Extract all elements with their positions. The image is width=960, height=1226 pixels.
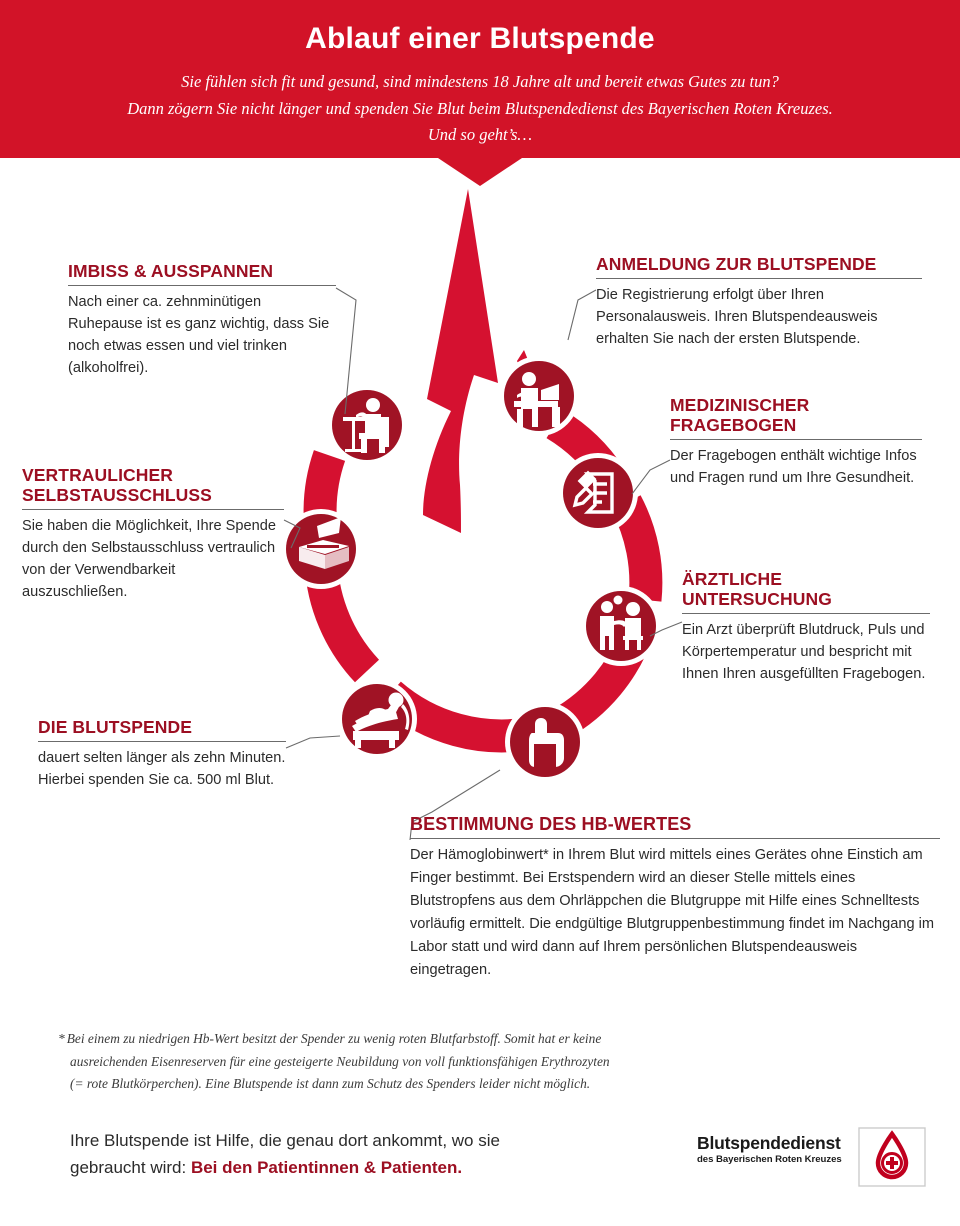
callout-hb-wert-body: Der Hämoglobinwert* in Ihrem Blut wird m… (410, 844, 940, 982)
callout-rule (596, 278, 922, 279)
callout-rule (410, 838, 940, 839)
footnote-line-1: *Bei einem zu niedrigen Hb-Wert besitzt … (58, 1028, 758, 1051)
closing-line-2-accent: Bei den Patientinnen & Patienten. (191, 1158, 462, 1177)
step-icon-anmeldung[interactable] (499, 356, 579, 436)
callout-rule (68, 285, 336, 286)
callout-rule (682, 613, 930, 614)
header-subtitle-line-1: Sie fühlen sich fit und gesund, sind min… (40, 69, 920, 96)
footnote: *Bei einem zu niedrigen Hb-Wert besitzt … (58, 1028, 758, 1096)
callout-anmeldung-body: Die Registrierung erfolgt über Ihren Per… (596, 284, 922, 351)
callout-hb-wert: BESTIMMUNG DES HB-WERTES Der Hämoglobinw… (410, 814, 940, 982)
callout-blutspende-heading: DIE BLUTSPENDE (38, 718, 286, 738)
step-icon-fragebogen[interactable] (558, 453, 638, 533)
closing-line-2: gebraucht wird: Bei den Patientinnen & P… (70, 1155, 670, 1182)
callout-selbstausschluss-heading: VERTRAULICHER SELBSTAUSSCHLUSS (22, 466, 284, 506)
callout-untersuchung: ÄRZTLICHE UNTERSUCHUNG Ein Arzt überprüf… (682, 570, 930, 685)
header-subtitle-line-3: Und so geht’s… (40, 122, 920, 149)
step-icon-blutspende[interactable] (337, 679, 417, 759)
heading-line-1: VERTRAULICHER (22, 465, 173, 485)
callout-rule (38, 741, 286, 742)
callout-rule (670, 439, 922, 440)
upward-arrow (423, 189, 498, 533)
logo-wordmark: Blutspendedienst des Bayerischen Roten K… (697, 1134, 847, 1166)
header-banner: Ablauf einer Blutspende Sie fühlen sich … (0, 0, 960, 185)
callout-imbiss: IMBISS & AUSSPANNEN Nach einer ca. zehnm… (68, 262, 336, 380)
callout-untersuchung-heading: ÄRZTLICHE UNTERSUCHUNG (682, 570, 930, 610)
closing-line-2-prefix: gebraucht wird: (70, 1158, 191, 1177)
callout-imbiss-heading: IMBISS & AUSSPANNEN (68, 262, 336, 282)
step-icon-imbiss[interactable] (327, 385, 407, 465)
heading-line-1: MEDIZINISCHER (670, 395, 809, 415)
footnote-text-1: Bei einem zu niedrigen Hb-Wert besitzt d… (67, 1031, 602, 1046)
step-icon-hb-wert[interactable] (505, 702, 585, 782)
heading-line-2: SELBSTAUSSCHLUSS (22, 485, 212, 505)
page-title: Ablauf einer Blutspende (0, 22, 960, 55)
header-subtitle: Sie fühlen sich fit und gesund, sind min… (40, 69, 920, 149)
callout-rule (22, 509, 284, 510)
brand-logo: Blutspendedienst des Bayerischen Roten K… (697, 1126, 937, 1194)
header-subtitle-line-2: Dann zögern Sie nicht länger und spenden… (40, 96, 920, 123)
heading-line-1: ÄRZTLICHE (682, 569, 782, 589)
callout-selbstausschluss-body: Sie haben die Möglichkeit, Ihre Spende d… (22, 515, 284, 604)
callout-blutspende-body: dauert selten länger als zehn Minuten. H… (38, 747, 286, 791)
footnote-line-2: ausreichenden Eisenreserven für eine ges… (58, 1051, 758, 1074)
callout-selbstausschluss: VERTRAULICHER SELBSTAUSSCHLUSS Sie haben… (22, 466, 284, 604)
step-icon-selbstausschluss[interactable] (281, 509, 361, 589)
callout-imbiss-body: Nach einer ca. zehnminütigen Ruhepause i… (68, 291, 336, 380)
callout-fragebogen-body: Der Fragebogen enthält wichtige Infos un… (670, 445, 922, 489)
callout-untersuchung-body: Ein Arzt überprüft Blutdruck, Puls und K… (682, 619, 930, 686)
callout-blutspende: DIE BLUTSPENDE dauert selten länger als … (38, 718, 286, 791)
footnote-line-3: (= rote Blutkörperchen). Eine Blutspende… (58, 1073, 758, 1096)
blood-drop-red-cross-icon (857, 1126, 927, 1188)
heading-line-2: FRAGEBOGEN (670, 415, 796, 435)
step-icon-untersuchung[interactable] (581, 586, 661, 666)
closing-line-1: Ihre Blutspende ist Hilfe, die genau dor… (70, 1128, 670, 1155)
callout-hb-wert-heading: BESTIMMUNG DES HB-WERTES (410, 814, 940, 835)
callout-fragebogen: MEDIZINISCHER FRAGEBOGEN Der Fragebogen … (670, 396, 922, 489)
logo-sub-text: des Bayerischen Roten Kreuzes (697, 1155, 847, 1166)
callout-fragebogen-heading: MEDIZINISCHER FRAGEBOGEN (670, 396, 922, 436)
logo-main-text: Blutspendedienst (697, 1134, 847, 1152)
heading-line-2: UNTERSUCHUNG (682, 589, 832, 609)
closing-statement: Ihre Blutspende ist Hilfe, die genau dor… (70, 1128, 670, 1182)
callout-anmeldung: ANMELDUNG ZUR BLUTSPENDE Die Registrieru… (596, 255, 922, 350)
callout-anmeldung-heading: ANMELDUNG ZUR BLUTSPENDE (596, 255, 922, 275)
footnote-marker: * (58, 1031, 65, 1046)
